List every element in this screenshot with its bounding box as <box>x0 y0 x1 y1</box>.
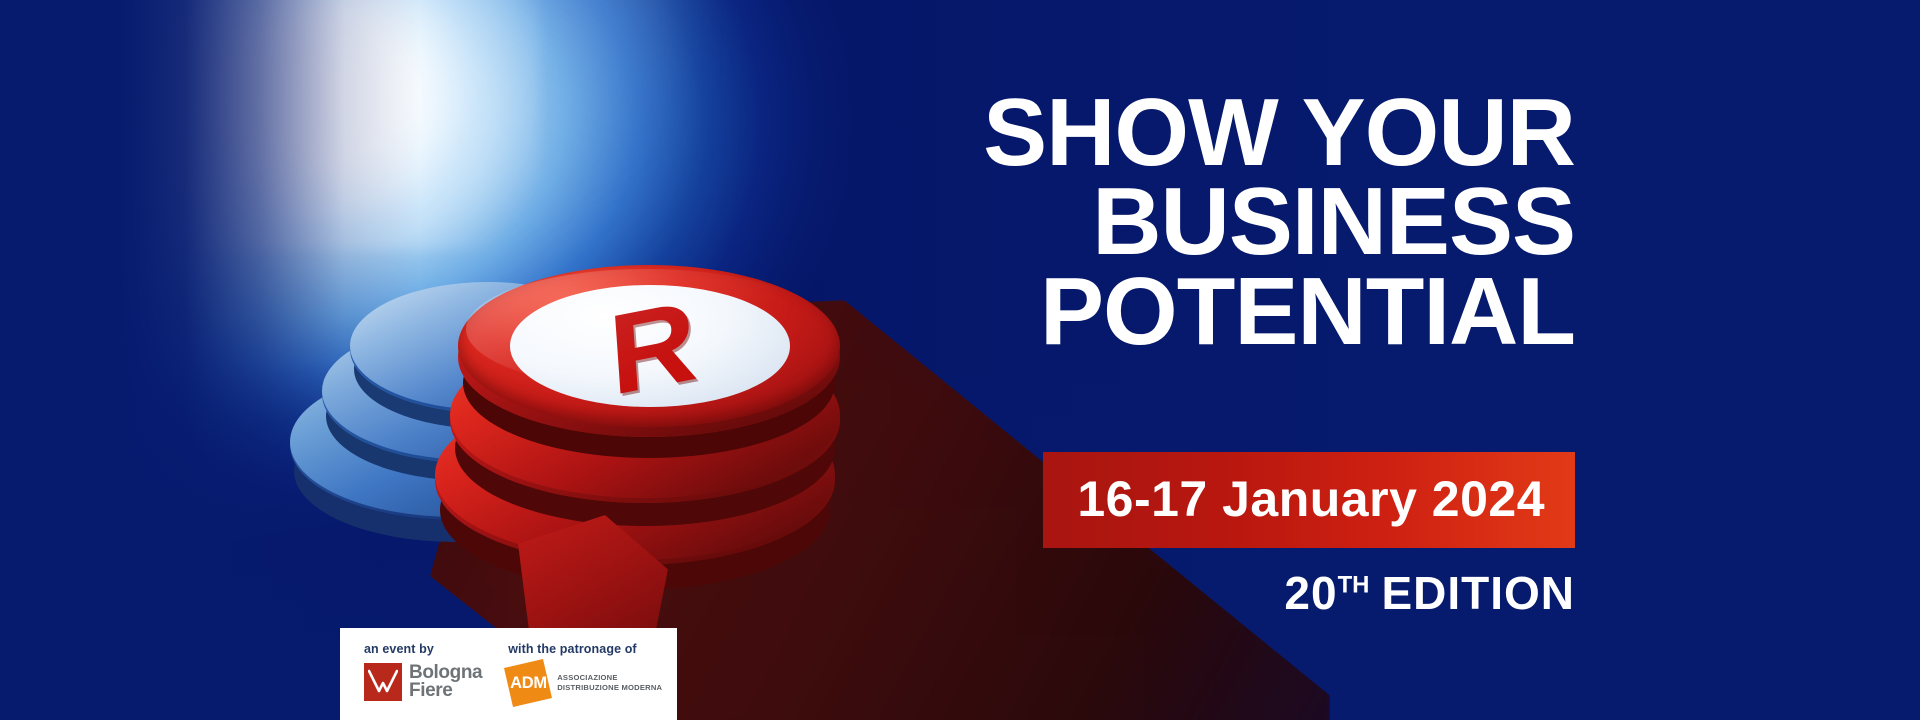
adm-full-name: ASSOCIAZIONE DISTRIBUZIONE MODERNA <box>557 673 662 693</box>
adm-full-name-line-2: DISTRIBUZIONE MODERNA <box>557 683 662 693</box>
event-date-badge: 16-17 January 2024 <box>1043 452 1575 548</box>
edition-word: EDITION <box>1381 567 1575 619</box>
patron-block: with the patronage of ADM ASSOCIAZIONE D… <box>482 642 662 703</box>
registered-mark-inner-circle <box>510 285 790 407</box>
edition-label: 20thEDITION <box>1284 570 1575 616</box>
bolognafiere-wordmark: Bologna Fiere <box>409 664 482 700</box>
edition-number: 20 <box>1284 567 1337 619</box>
patron-caption: with the patronage of <box>508 642 662 656</box>
headline: SHOW YOUR BUSINESS POTENTIAL <box>983 88 1575 356</box>
event-banner: R SHOW YOUR BUSINESS POTENTIAL 16-17 Jan… <box>0 0 1920 720</box>
headline-line-1: SHOW YOUR <box>983 88 1575 177</box>
headline-line-3: POTENTIAL <box>983 267 1575 356</box>
sponsor-logo-box: an event by Bologna Fiere with the patro… <box>340 628 677 720</box>
adm-acronym: ADM <box>510 674 547 693</box>
adm-full-name-line-1: ASSOCIAZIONE <box>557 673 662 683</box>
organiser-block: an event by Bologna Fiere <box>340 642 482 701</box>
edition-ordinal-suffix: th <box>1338 572 1370 599</box>
organiser-caption: an event by <box>364 642 482 656</box>
adm-square-icon: ADM <box>504 659 552 707</box>
headline-line-2: BUSINESS <box>983 177 1575 266</box>
bolognafiere-check-icon <box>364 663 402 701</box>
adm-logo: ADM ASSOCIAZIONE DISTRIBUZIONE MODERNA <box>508 663 662 703</box>
bolognafiere-word-line-2: Fiere <box>409 682 482 700</box>
bolognafiere-logo: Bologna Fiere <box>364 663 482 701</box>
trademark-disc-stack-illustration: R <box>280 185 840 605</box>
